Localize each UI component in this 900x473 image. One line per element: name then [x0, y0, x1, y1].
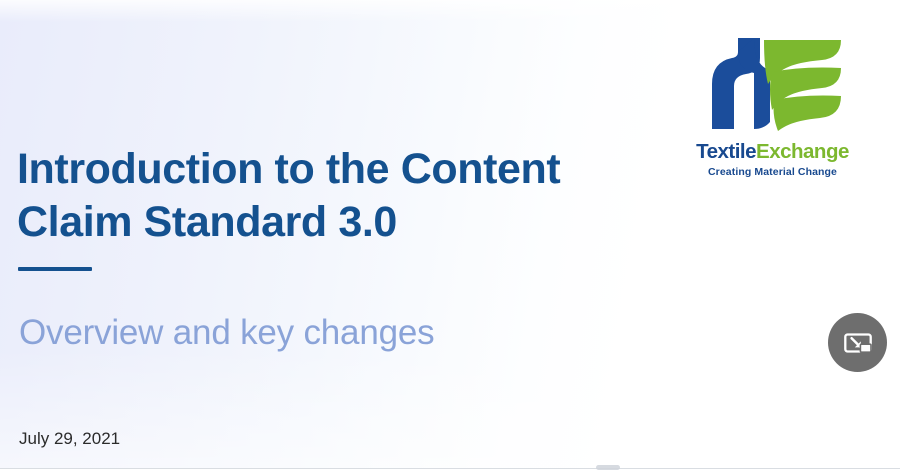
slide-bottom-gradient-wash: [0, 348, 900, 468]
logo-wordmark-textile: Textile: [696, 140, 756, 163]
slide-title: Introduction to the Content Claim Standa…: [17, 143, 657, 249]
miniplayer-icon: [843, 328, 873, 358]
video-player-viewport: Introduction to the Content Claim Standa…: [0, 0, 900, 473]
slide-date: July 29, 2021: [19, 428, 120, 450]
player-bottom-hairline: [0, 468, 900, 469]
logo-wordmark: TextileExchange: [690, 140, 855, 164]
miniplayer-button[interactable]: [828, 313, 887, 372]
player-bottom-handle[interactable]: [596, 465, 620, 470]
player-bottom-strip: [0, 469, 900, 473]
slide-subtitle: Overview and key changes: [19, 311, 659, 355]
slide-top-gradient-wash: [0, 0, 900, 22]
textile-exchange-mark-icon: [702, 28, 847, 136]
title-accent-rule: [18, 267, 92, 271]
logo-tagline: Creating Material Change: [690, 166, 855, 179]
presentation-slide: Introduction to the Content Claim Standa…: [0, 0, 900, 468]
textile-exchange-logo: TextileExchange Creating Material Change: [690, 28, 855, 188]
logo-wordmark-exchange: Exchange: [756, 140, 849, 163]
